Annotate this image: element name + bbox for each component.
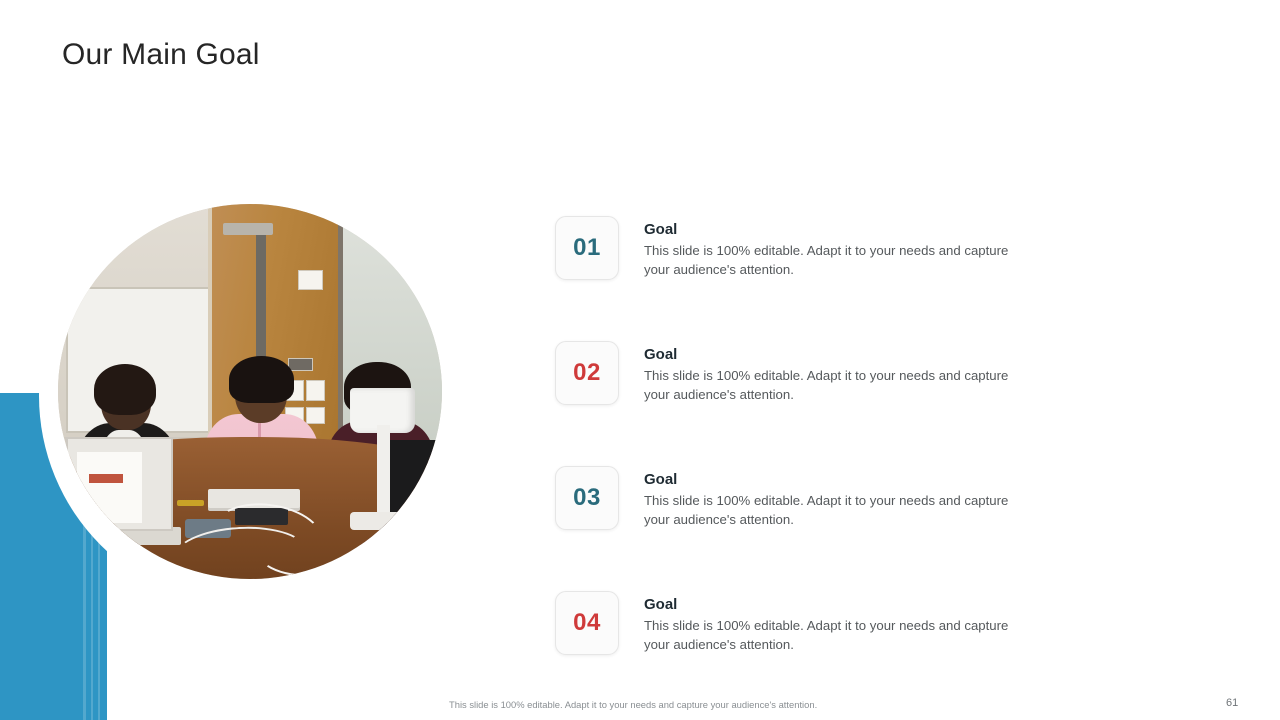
goal-title-01: Goal [644, 221, 1016, 239]
goal-text-block-01: Goal This slide is 100% editable. Adapt … [644, 216, 1016, 279]
goal-item-01[interactable]: 01 Goal This slide is 100% editable. Ada… [555, 216, 1025, 280]
photo-scene [58, 204, 442, 579]
photo-paper-mark [89, 474, 124, 483]
goal-text-block-03: Goal This slide is 100% editable. Adapt … [644, 466, 1016, 529]
goal-number-02: 02 [573, 359, 601, 387]
page-number: 61 [1226, 697, 1238, 709]
goal-description-02: This slide is 100% editable. Adapt it to… [644, 367, 1016, 404]
photo-door-closer [223, 223, 273, 235]
goal-description-01: This slide is 100% editable. Adapt it to… [644, 242, 1016, 279]
goal-number-badge-01: 01 [555, 216, 619, 280]
goal-number-badge-03: 03 [555, 466, 619, 530]
goal-number-badge-04: 04 [555, 591, 619, 655]
goal-title-04: Goal [644, 596, 1016, 614]
page-title: Our Main Goal [62, 38, 260, 72]
goal-title-02: Goal [644, 346, 1016, 364]
meeting-photo [58, 204, 442, 579]
photo-pen [177, 500, 204, 506]
photo-paper [77, 452, 142, 523]
footer-note: This slide is 100% editable. Adapt it to… [449, 699, 817, 710]
slide-canvas: Our Main Goal 01 Goal This slide is 100%… [0, 0, 1280, 720]
photo-desk-lamp-neck [377, 425, 390, 523]
goal-item-02[interactable]: 02 Goal This slide is 100% editable. Ada… [555, 341, 1025, 405]
goal-number-badge-02: 02 [555, 341, 619, 405]
goal-item-03[interactable]: 03 Goal This slide is 100% editable. Ada… [555, 466, 1025, 530]
goal-item-04[interactable]: 04 Goal This slide is 100% editable. Ada… [555, 591, 1025, 655]
goals-list: 01 Goal This slide is 100% editable. Ada… [555, 216, 1025, 655]
photo-notice [298, 270, 323, 291]
goal-number-03: 03 [573, 484, 601, 512]
goal-description-04: This slide is 100% editable. Adapt it to… [644, 617, 1016, 654]
goal-text-block-04: Goal This slide is 100% editable. Adapt … [644, 591, 1016, 654]
goal-text-block-02: Goal This slide is 100% editable. Adapt … [644, 341, 1016, 404]
goal-description-03: This slide is 100% editable. Adapt it to… [644, 492, 1016, 529]
goal-number-04: 04 [573, 609, 601, 637]
goal-title-03: Goal [644, 471, 1016, 489]
goal-number-01: 01 [573, 234, 601, 262]
